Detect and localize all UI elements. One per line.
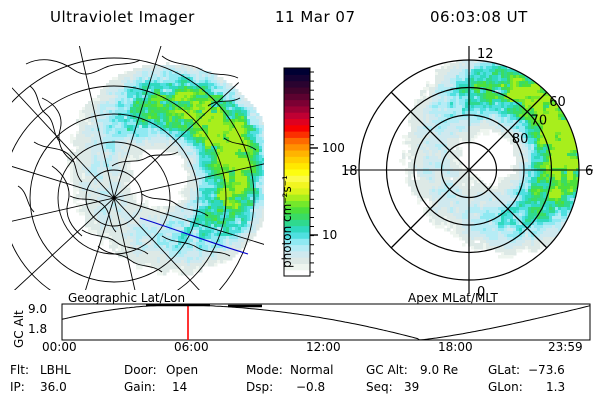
status-flt-label: Flt: bbox=[10, 363, 29, 377]
status-gcalt-value: 9.0 Re bbox=[420, 363, 458, 377]
header-bar: Ultraviolet Imager 11 Mar 07 06:03:08 UT bbox=[0, 8, 600, 32]
timeline-xtick-1: 06:00 bbox=[174, 340, 209, 354]
orbit-timeline[interactable]: Geographic Lat/Lon Apex MLat/MLT GC Alt … bbox=[0, 292, 600, 358]
status-seq-label: Seq: bbox=[366, 380, 393, 394]
timeline-xtick-3: 18:00 bbox=[438, 340, 473, 354]
status-gain-value: 14 bbox=[172, 380, 187, 394]
status-readout: Flt: LBHL Door: Open Mode: Normal GC Alt… bbox=[0, 362, 600, 400]
status-glon-label: GLon: bbox=[488, 380, 523, 394]
colorbar-ticks: 10010 bbox=[310, 72, 345, 272]
aurora-emission-magnetic bbox=[399, 51, 600, 258]
timeline-xtick-0: 00:00 bbox=[42, 340, 77, 354]
status-gcalt-label: GC Alt: bbox=[366, 363, 408, 377]
observation-date: 11 Mar 07 bbox=[275, 8, 356, 26]
instrument-title: Ultraviolet Imager bbox=[50, 8, 195, 26]
status-glon-value: 1.3 bbox=[546, 380, 565, 394]
status-gain-label: Gain: bbox=[124, 380, 156, 394]
timeline-xtick-4: 23:59 bbox=[548, 340, 583, 354]
svg-text:10: 10 bbox=[322, 228, 337, 242]
status-mode-value: Normal bbox=[290, 363, 333, 377]
svg-text:100: 100 bbox=[322, 141, 345, 155]
aurora-emission-geographic bbox=[67, 62, 277, 275]
status-seq-value: 39 bbox=[404, 380, 419, 394]
status-glat-label: GLat: bbox=[488, 363, 520, 377]
colorbar: photon cm⁻²s⁻¹ 10010 bbox=[266, 56, 346, 288]
status-mode-label: Mode: bbox=[246, 363, 283, 377]
status-flt-value: LBHL bbox=[40, 363, 71, 377]
status-door-label: Door: bbox=[124, 363, 157, 377]
geographic-polar-plot bbox=[12, 46, 264, 290]
uvi-display: Ultraviolet Imager 11 Mar 07 06:03:08 UT… bbox=[0, 0, 600, 400]
status-glat-value: −73.6 bbox=[528, 363, 565, 377]
status-dsp-value: −0.8 bbox=[296, 380, 325, 394]
observation-time: 06:03:08 UT bbox=[430, 8, 528, 26]
colorbar-axis-title: photon cm⁻²s⁻¹ bbox=[280, 175, 294, 268]
timeline-xtick-2: 12:00 bbox=[306, 340, 341, 354]
status-door-value: Open bbox=[166, 363, 198, 377]
status-ip-label: IP: bbox=[10, 380, 25, 394]
mlat-mlt-polar-plot: 121860607080 bbox=[344, 46, 594, 294]
status-dsp-label: Dsp: bbox=[246, 380, 273, 394]
mlat-mlt-grid bbox=[345, 46, 593, 294]
status-ip-value: 36.0 bbox=[40, 380, 67, 394]
